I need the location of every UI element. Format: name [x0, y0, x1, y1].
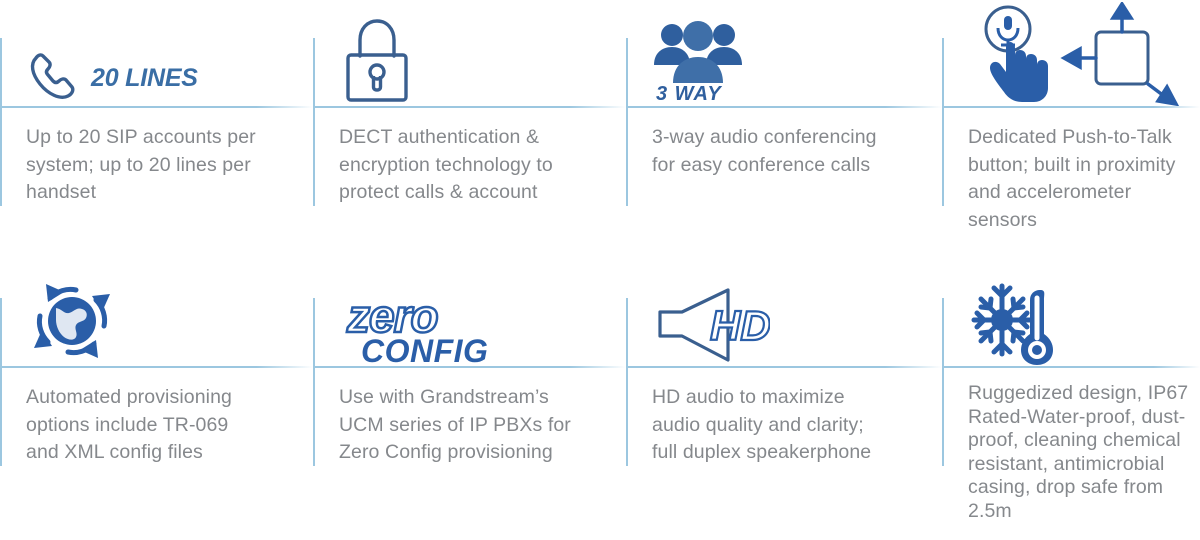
- card-left-rule: [0, 298, 2, 466]
- config-wordmark: CONFIG: [361, 336, 488, 366]
- card-left-rule: [0, 38, 2, 206]
- icon-area: [968, 0, 1200, 106]
- feature-card-security: DECT authentication & encryption technol…: [313, 0, 626, 270]
- feature-card-lines: 20 LINES Up to 20 SIP accounts per syste…: [0, 0, 313, 270]
- feature-card-ruggedized: Ruggedized design, IP67 Rated-Water-proo…: [942, 270, 1200, 540]
- feature-description: Up to 20 SIP accounts per system; up to …: [26, 124, 266, 207]
- card-divider: [626, 106, 942, 108]
- feature-description: Use with Grandstream’s UCM series of IP …: [339, 384, 579, 467]
- zero-config-logo: zero CONFIG: [347, 296, 488, 366]
- icon-area: [968, 270, 1200, 366]
- snowflake-thermometer-icon: [968, 276, 1064, 366]
- icon-area: HD: [652, 270, 942, 366]
- card-left-rule: [313, 298, 315, 466]
- padlock-icon: [339, 14, 415, 106]
- conference-badge-label: 3 WAY: [656, 83, 722, 106]
- lines-badge-label: 20 LINES: [91, 64, 198, 93]
- feature-card-zero-config: zero CONFIG Use with Grandstream’s UCM s…: [313, 270, 626, 540]
- feature-card-hd-audio: HD HD audio to maximize audio quality an…: [626, 270, 942, 540]
- feature-grid: 20 LINES Up to 20 SIP accounts per syste…: [0, 0, 1200, 540]
- feature-description: Ruggedized design, IP67 Rated-Water-proo…: [968, 382, 1200, 524]
- feature-card-conference: 3 WAY 3-way audio conferencing for easy …: [626, 0, 942, 270]
- card-divider: [626, 366, 942, 368]
- card-divider: [942, 106, 1200, 108]
- icon-area: 3 WAY: [652, 0, 942, 106]
- feature-description: Automated provisioning options include T…: [26, 384, 266, 467]
- icon-area: 20 LINES: [26, 0, 313, 106]
- feature-description: 3-way audio conferencing for easy confer…: [652, 124, 892, 179]
- icon-area: zero CONFIG: [339, 270, 626, 366]
- hand-press-microphone-icon: [968, 2, 1198, 106]
- icon-area: [26, 270, 313, 366]
- phone-handset-icon: [26, 50, 84, 106]
- globe-sync-icon: [26, 276, 118, 366]
- three-people-icon: [652, 19, 744, 87]
- svg-text:HD: HD: [710, 302, 770, 349]
- feature-description: Dedicated Push-to-Talk button; built in …: [968, 124, 1200, 235]
- card-left-rule: [942, 298, 944, 466]
- card-left-rule: [313, 38, 315, 206]
- card-divider: [0, 106, 313, 108]
- feature-description: HD audio to maximize audio quality and c…: [652, 384, 892, 467]
- card-divider: [0, 366, 313, 368]
- feature-card-push-to-talk: Dedicated Push-to-Talk button; built in …: [942, 0, 1200, 270]
- feature-description: DECT authentication & encryption technol…: [339, 124, 579, 207]
- zero-wordmark: zero: [347, 296, 438, 337]
- card-divider: [313, 366, 626, 368]
- card-left-rule: [626, 298, 628, 466]
- card-divider: [942, 366, 1200, 368]
- card-left-rule: [626, 38, 628, 206]
- card-divider: [313, 106, 626, 108]
- icon-area: [339, 0, 626, 106]
- speaker-hd-icon: HD: [652, 282, 770, 366]
- feature-card-provisioning: Automated provisioning options include T…: [0, 270, 313, 540]
- card-left-rule: [942, 38, 944, 206]
